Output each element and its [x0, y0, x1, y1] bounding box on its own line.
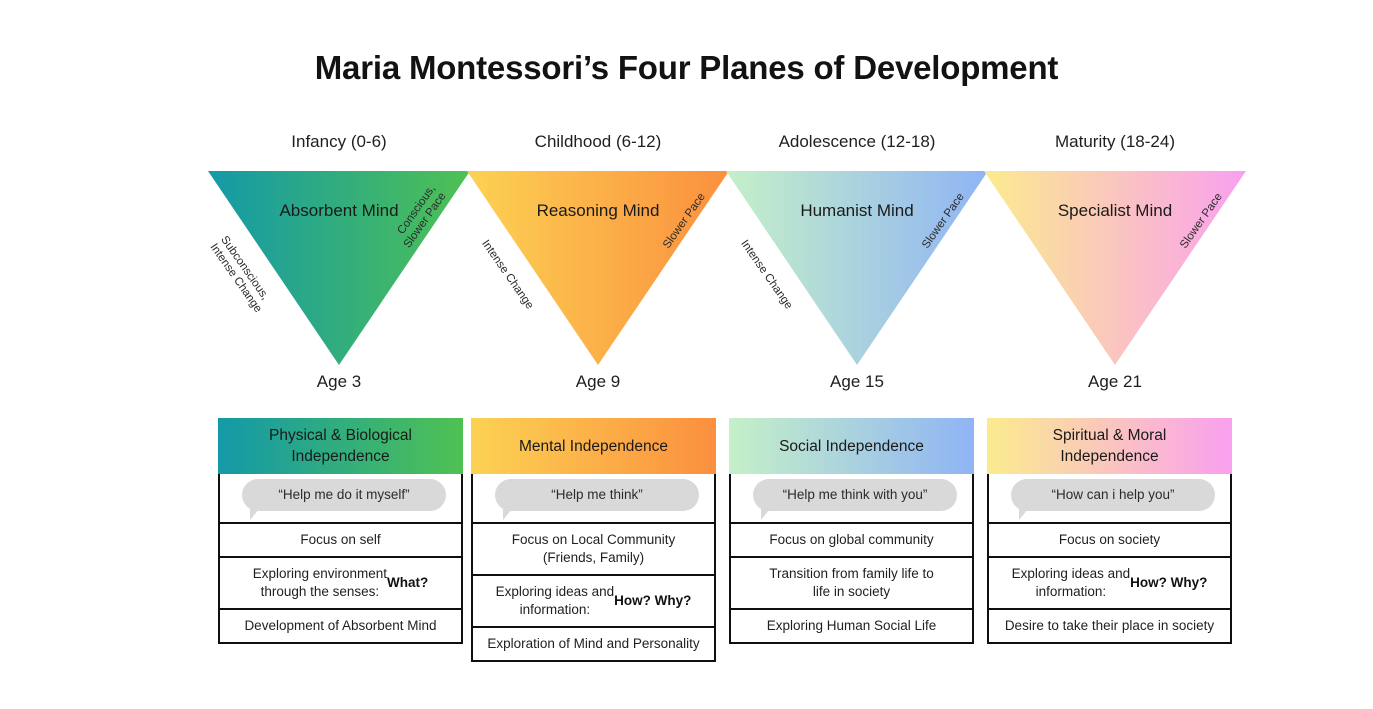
speech-bubble-tail-icon: [761, 509, 770, 520]
page-title: Maria Montessori’s Four Planes of Develo…: [0, 49, 1373, 87]
exploring-emphasis: How? Why?: [614, 592, 691, 610]
independence-table: Physical & Biological Independence “Help…: [0, 418, 1373, 673]
table-row-outcome: Exploration of Mind and Personality: [473, 626, 714, 660]
quote-cell: “Help me think with you”: [731, 474, 972, 522]
table-row-exploring: Exploring environment through the senses…: [220, 556, 461, 608]
table-row-focus: Focus on society: [989, 522, 1230, 556]
speech-bubble-tail-icon: [1019, 509, 1028, 520]
table-column-mental: Mental Independence “Help me think” Focu…: [471, 418, 716, 662]
column-header-social: Social Independence: [729, 418, 974, 474]
exploring-text: Exploring ideas and information:: [496, 583, 615, 619]
stage-label-adolescence: Adolescence (12-18): [723, 132, 991, 152]
table-row-focus: Focus on Local Community (Friends, Famil…: [473, 522, 714, 574]
exploring-text: Exploring environment through the senses…: [253, 565, 387, 601]
column-rows-spiritual: “How can i help you” Focus on society Ex…: [987, 474, 1232, 644]
table-row-focus: Focus on global community: [731, 522, 972, 556]
speech-bubble: “Help me think with you”: [753, 479, 957, 511]
exploring-text: Exploring ideas and information:: [1012, 565, 1131, 601]
stage-label-childhood: Childhood (6-12): [464, 132, 732, 152]
speech-bubble: “How can i help you”: [1011, 479, 1215, 511]
quote-cell: “How can i help you”: [989, 474, 1230, 522]
column-header-physical: Physical & Biological Independence: [218, 418, 463, 474]
table-row-focus: Focus on self: [220, 522, 461, 556]
table-row-exploring: Exploring ideas and information: How? Wh…: [989, 556, 1230, 608]
column-rows-social: “Help me think with you” Focus on global…: [729, 474, 974, 644]
exploring-emphasis: How? Why?: [1130, 574, 1207, 592]
stage-label-infancy: Infancy (0-6): [205, 132, 473, 152]
speech-bubble-tail-icon: [503, 509, 512, 520]
quote-cell: “Help me do it myself”: [220, 474, 461, 522]
plane-childhood: Childhood (6-12) Reasoning Mind Intense …: [464, 132, 732, 402]
exploring-emphasis: What?: [387, 574, 428, 592]
stage-label-maturity: Maturity (18-24): [981, 132, 1249, 152]
table-row-exploring: Transition from family life to life in s…: [731, 556, 972, 608]
table-row-outcome: Development of Absorbent Mind: [220, 608, 461, 642]
column-rows-mental: “Help me think” Focus on Local Community…: [471, 474, 716, 662]
speech-bubble: “Help me think”: [495, 479, 699, 511]
table-row-outcome: Exploring Human Social Life: [731, 608, 972, 642]
table-column-spiritual: Spiritual & Moral Independence “How can …: [987, 418, 1232, 644]
table-column-social: Social Independence “Help me think with …: [729, 418, 974, 644]
age-label-childhood: Age 9: [464, 372, 732, 392]
exploring-text: Transition from family life to life in s…: [769, 565, 934, 601]
column-rows-physical: “Help me do it myself” Focus on self Exp…: [218, 474, 463, 644]
table-row-exploring: Exploring ideas and information: How? Wh…: [473, 574, 714, 626]
table-column-physical: Physical & Biological Independence “Help…: [218, 418, 463, 644]
plane-infancy: Infancy (0-6) Absorbent Mind Subconsciou…: [205, 132, 473, 402]
speech-bubble: “Help me do it myself”: [242, 479, 446, 511]
column-header-spiritual: Spiritual & Moral Independence: [987, 418, 1232, 474]
column-header-mental: Mental Independence: [471, 418, 716, 474]
age-label-maturity: Age 21: [981, 372, 1249, 392]
table-row-outcome: Desire to take their place in society: [989, 608, 1230, 642]
planes-band: Infancy (0-6) Absorbent Mind Subconsciou…: [0, 132, 1373, 402]
quote-cell: “Help me think”: [473, 474, 714, 522]
age-label-adolescence: Age 15: [723, 372, 991, 392]
plane-adolescence: Adolescence (12-18) Humanist Mind Intens…: [723, 132, 991, 402]
age-label-infancy: Age 3: [205, 372, 473, 392]
speech-bubble-tail-icon: [250, 509, 259, 520]
plane-maturity: Maturity (18-24) Specialist Mind Slower …: [981, 132, 1249, 402]
